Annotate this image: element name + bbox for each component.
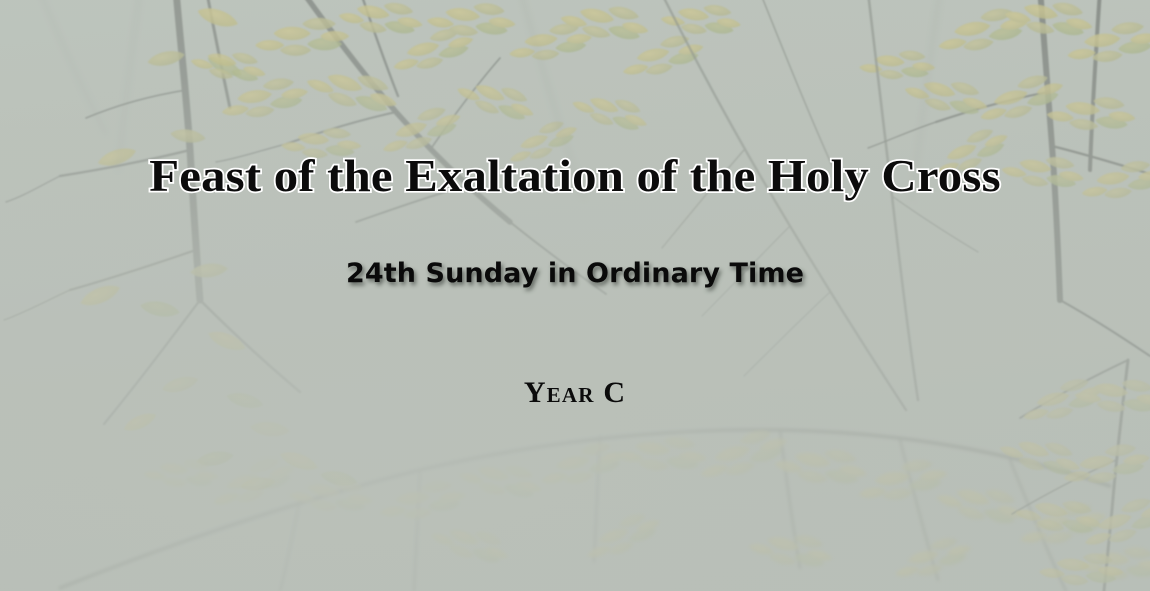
- slide-subtitle: 24th Sunday in Ordinary Time: [0, 258, 1150, 289]
- title-slide: Feast of the Exaltation of the Holy Cros…: [0, 0, 1150, 591]
- page-title: Feast of the Exaltation of the Holy Cros…: [0, 152, 1150, 200]
- slide-content: Feast of the Exaltation of the Holy Cros…: [0, 0, 1150, 591]
- liturgical-year-label: Year C: [0, 376, 1150, 410]
